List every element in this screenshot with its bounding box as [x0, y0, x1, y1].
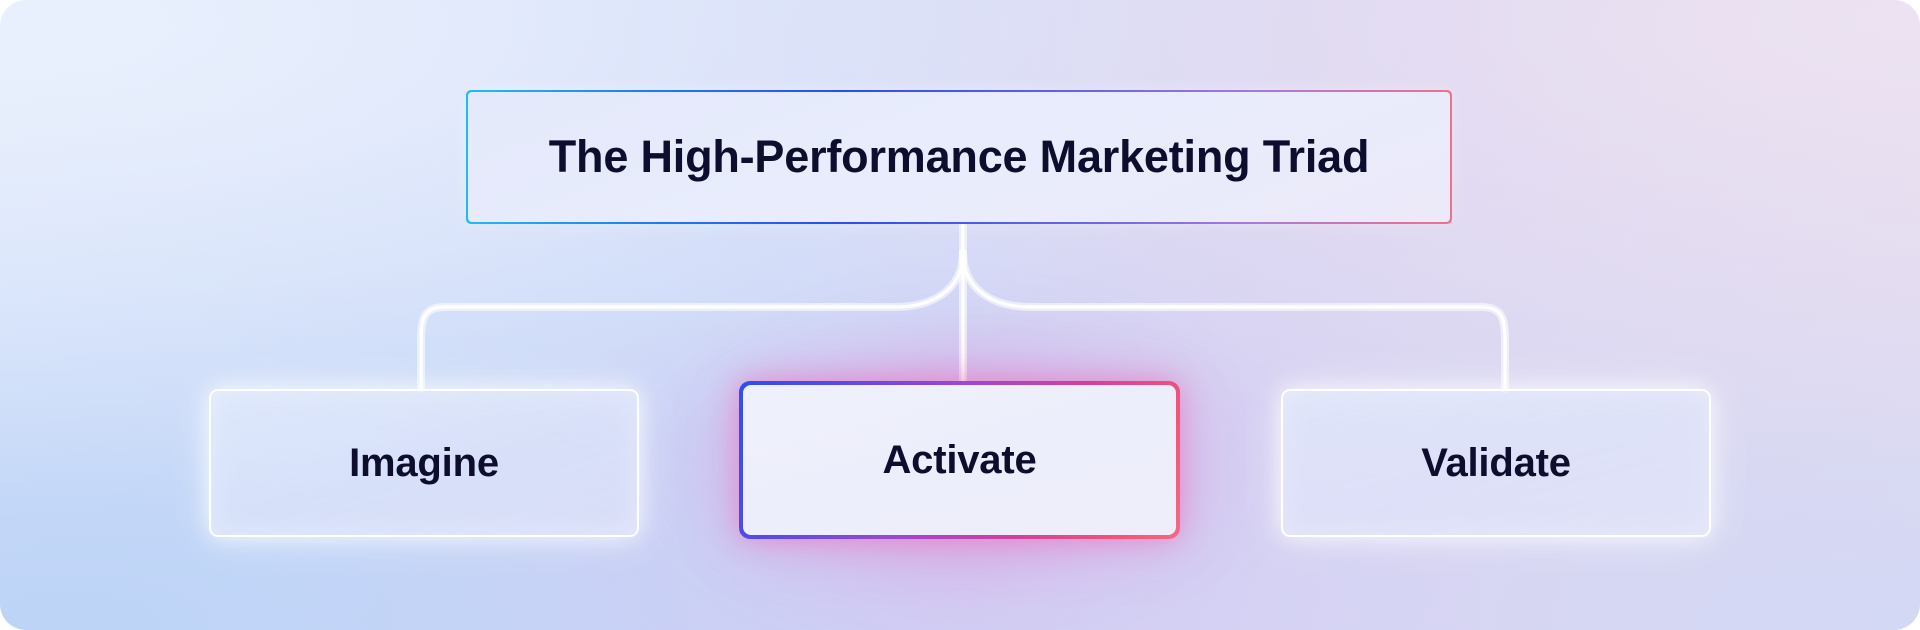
connector-right	[963, 252, 1505, 389]
node-title-inner: The High-Performance Marketing Triad	[468, 92, 1451, 223]
node-validate-label: Validate	[1421, 441, 1571, 485]
node-validate[interactable]: Validate	[1281, 389, 1711, 537]
node-title[interactable]: The High-Performance Marketing Triad	[466, 90, 1452, 224]
node-activate-label: Activate	[882, 438, 1036, 482]
node-imagine[interactable]: Imagine	[209, 389, 639, 537]
connector-left	[421, 252, 963, 389]
node-imagine-label: Imagine	[349, 441, 499, 485]
diagram-canvas: The High-Performance Marketing Triad Ima…	[0, 0, 1920, 630]
node-activate-inner: Activate	[743, 385, 1176, 535]
node-title-label: The High-Performance Marketing Triad	[549, 132, 1369, 182]
node-activate[interactable]: Activate	[739, 381, 1180, 539]
